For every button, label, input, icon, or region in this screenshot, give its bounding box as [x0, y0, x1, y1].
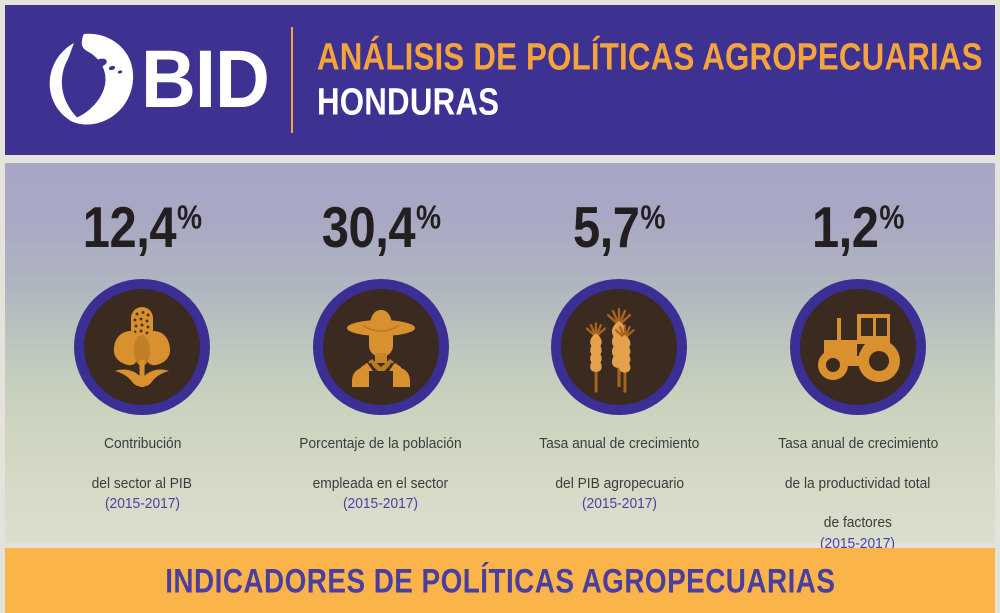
stat-caption-line: Porcentaje de la población	[300, 434, 462, 455]
stat-badge	[313, 279, 449, 415]
stat-caption-line: Tasa anual de crecimiento	[778, 434, 938, 455]
header-banner: BID ANÁLISIS DE POLÍTICAS AGROPECUARIAS …	[5, 5, 995, 155]
stat-badge	[790, 279, 926, 415]
bid-logo-block: BID	[43, 30, 269, 130]
stat-value: 30,4%	[321, 200, 440, 257]
stat-caption-line: empleada en el sector	[313, 474, 449, 495]
bid-logo-icon	[43, 30, 137, 130]
corn-plant-icon	[103, 305, 181, 389]
stat-badge	[551, 279, 687, 415]
stat-years: (2015-2017)	[343, 494, 418, 515]
page-title: ANÁLISIS DE POLÍTICAS AGROPECUARIAS	[317, 37, 983, 78]
stat-percent-sign: %	[879, 202, 904, 235]
stat-value: 5,7%	[573, 200, 665, 257]
stat-caption-line: del sector al PIB	[92, 474, 192, 495]
farmer-icon	[335, 301, 427, 393]
stat-badge	[74, 279, 210, 415]
page-subtitle-country: HONDURAS	[317, 82, 983, 123]
footer-title: INDICADORES DE POLÍTICAS AGROPECUARIAS	[165, 563, 835, 598]
stat-card-employment-share: 30,4%	[265, 163, 497, 515]
stat-years: (2015-2017)	[105, 494, 180, 515]
stat-years: (2015-2017)	[582, 494, 657, 515]
bid-logo-wordmark: BID	[141, 39, 269, 121]
stat-badge-inner	[800, 289, 916, 405]
stat-card-agri-gdp-growth: 5,7%	[503, 163, 735, 515]
stat-caption-line: de la productividad total	[785, 474, 930, 495]
stat-caption-line: del PIB agropecuario	[555, 474, 684, 495]
header-text-block: ANÁLISIS DE POLÍTICAS AGROPECUARIAS HOND…	[317, 39, 1000, 120]
stat-card-gdp-contribution: 12,4%	[26, 163, 258, 515]
stats-area: 12,4%	[5, 163, 995, 543]
stat-badge-inner	[323, 289, 439, 405]
tractor-icon	[810, 306, 906, 388]
stat-value: 1,2%	[812, 200, 904, 257]
stat-badge-inner	[84, 289, 200, 405]
infographic-page: BID ANÁLISIS DE POLÍTICAS AGROPECUARIAS …	[0, 0, 1000, 613]
stat-percent-sign: %	[177, 202, 202, 235]
wheat-stalks-icon	[573, 301, 665, 393]
stat-badge-inner	[561, 289, 677, 405]
stat-number: 1,2	[812, 200, 879, 257]
stat-value: 12,4%	[83, 200, 202, 257]
stat-caption-line: de factores	[824, 513, 892, 534]
stat-caption-line: Tasa anual de crecimiento	[539, 434, 699, 455]
stat-percent-sign: %	[416, 202, 441, 235]
stat-caption-line: Contribución	[104, 434, 181, 455]
header-divider	[291, 27, 293, 133]
stat-number: 5,7	[573, 200, 640, 257]
stat-card-tfp-growth: 1,2%	[742, 163, 974, 554]
footer-banner: INDICADORES DE POLÍTICAS AGROPECUARIAS	[5, 548, 995, 613]
stat-percent-sign: %	[641, 202, 666, 235]
stat-number: 12,4	[83, 200, 176, 257]
stat-number: 30,4	[321, 200, 414, 257]
